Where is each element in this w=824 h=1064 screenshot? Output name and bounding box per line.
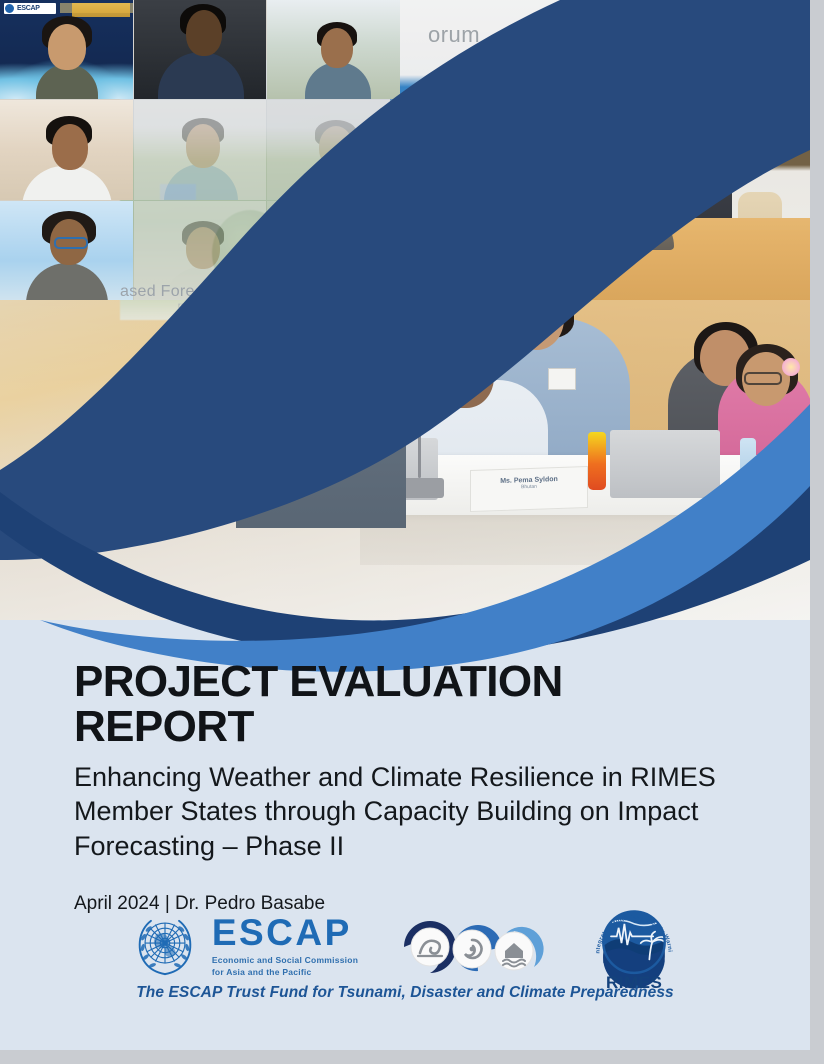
participant-face xyxy=(186,124,220,168)
video-tile-7[interactable] xyxy=(0,201,133,300)
video-tile-6[interactable] xyxy=(267,100,400,199)
hero-photo-collage: RIMES xyxy=(0,0,810,620)
video-tile-1[interactable]: ESCAP xyxy=(0,0,133,99)
escap-subtitle-line1: Economic and Social Commission xyxy=(212,955,358,966)
hair-flower-icon xyxy=(782,358,800,376)
name-badge xyxy=(548,368,576,390)
rimes-logo: Regional Integrated Multi-Hazard Early W… xyxy=(586,898,682,994)
speaker-hair-bun xyxy=(676,68,710,102)
page-title: PROJECT EVALUATION REPORT xyxy=(74,660,754,750)
participant-face xyxy=(52,124,88,170)
water-bottle-icon xyxy=(740,438,756,490)
participant-face xyxy=(186,227,220,269)
glasses-icon xyxy=(744,372,782,385)
video-tile-2[interactable] xyxy=(134,0,267,99)
un-emblem-icon xyxy=(128,909,202,983)
laptop-icon xyxy=(610,430,720,498)
delegate-nameplate: Ms. Pema Syldon Bhutan xyxy=(470,466,588,512)
un-emblem-icon xyxy=(4,3,15,14)
foreground-presenter-beard xyxy=(272,262,356,328)
escap-wordmark-block: ESCAP Economic and Social Commission for… xyxy=(212,914,358,977)
participant-face xyxy=(186,10,222,56)
slide-caption-subtext: raihanul xyxy=(178,301,206,310)
trust-fund-tagline: The ESCAP Trust Fund for Tsunami, Disast… xyxy=(0,984,810,1002)
logo-row: ESCAP Economic and Social Commission for… xyxy=(0,898,810,994)
title-block: PROJECT EVALUATION REPORT Enhancing Weat… xyxy=(74,660,754,915)
video-tile-5[interactable] xyxy=(134,100,267,199)
bottle-icon xyxy=(588,432,606,490)
photo-podium-speaker: orum on xyxy=(390,0,810,300)
participant-face xyxy=(321,28,353,68)
tsunami-wave-icon xyxy=(411,928,449,966)
report-cover-page: RIMES xyxy=(0,0,824,1064)
glasses-icon xyxy=(514,310,552,323)
escap-subtitle-line2: for Asia and the Pacific xyxy=(212,967,358,978)
table-underside xyxy=(360,515,790,565)
escap-subtitle: Economic and Social Commission for Asia … xyxy=(212,955,358,977)
sdg-lapel-pin-icon xyxy=(690,170,702,182)
backdrop-text-forum: orum xyxy=(428,22,480,48)
trust-fund-logo xyxy=(392,909,552,983)
glasses-icon xyxy=(54,237,88,249)
escap-logo: ESCAP Economic and Social Commission for… xyxy=(128,909,358,983)
escap-wordmark: ESCAP xyxy=(212,914,358,951)
participant-face xyxy=(48,24,86,70)
glasses-icon xyxy=(452,366,490,379)
page-sheet: RIMES xyxy=(0,0,810,1050)
table-microphone-icon xyxy=(418,400,421,478)
page-subtitle: Enhancing Weather and Climate Resilience… xyxy=(74,760,734,864)
participant-face xyxy=(319,126,353,168)
video-tile-4[interactable] xyxy=(0,100,133,199)
foreground-presenter-hand xyxy=(306,392,350,444)
video-tile-3[interactable] xyxy=(267,0,400,99)
background-banner-right xyxy=(72,3,130,17)
